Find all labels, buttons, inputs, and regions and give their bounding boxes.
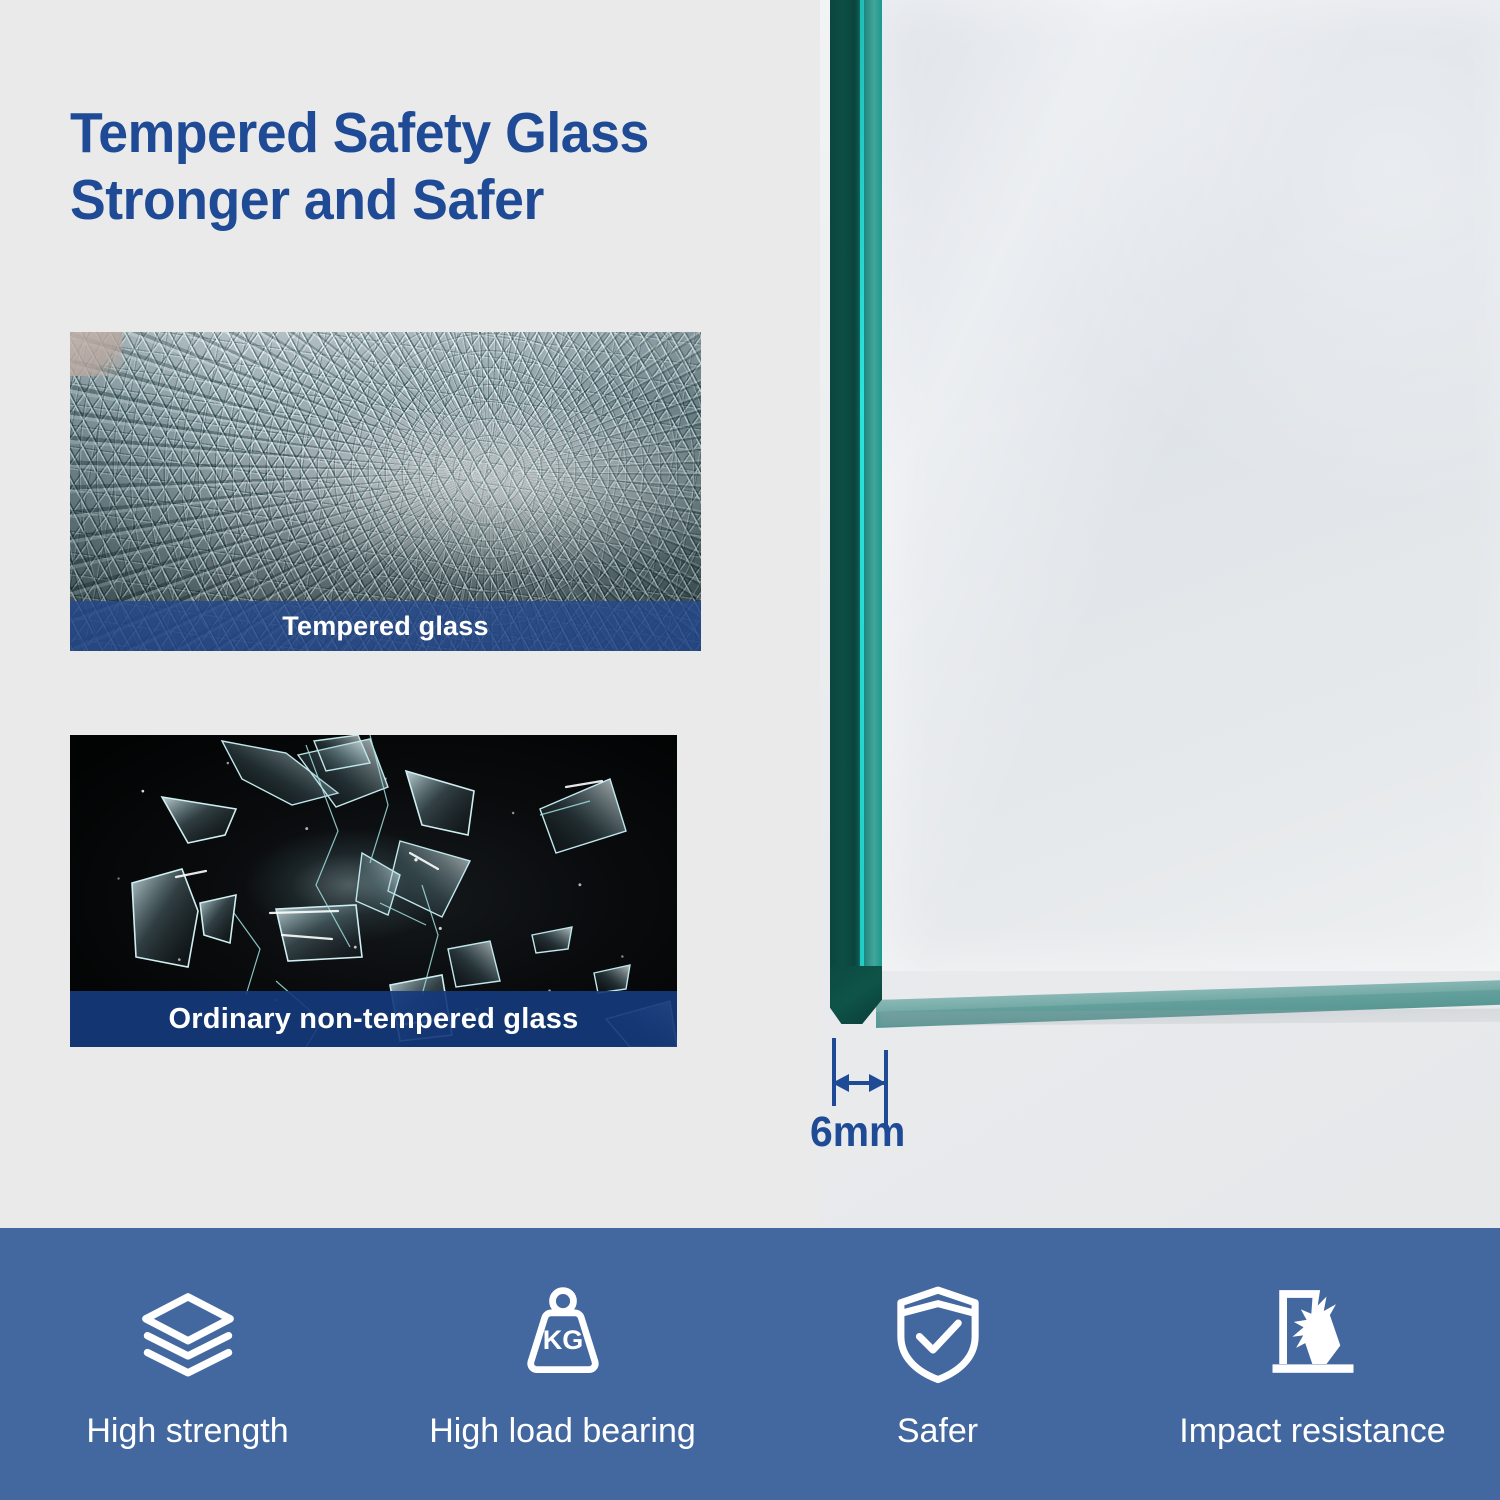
weight-kg-icon: KG [509, 1280, 617, 1388]
product-infographic: Tempered Safety Glass Stronger and Safer… [0, 0, 1500, 1500]
feature-bar: High strength KG High load bearing Safe [0, 1228, 1500, 1500]
tempered-glass-corner-tint [70, 332, 122, 376]
arrow-right-icon [869, 1074, 886, 1092]
arrow-left-icon [832, 1074, 849, 1092]
feature-label: Impact resistance [1179, 1414, 1445, 1448]
glass-panel-edge-bevel [830, 0, 882, 1006]
broken-glass-panel-icon [1259, 1280, 1367, 1388]
feature-label: High strength [86, 1414, 288, 1448]
weight-icon-text: KG [542, 1325, 583, 1355]
dimension-extension-line-left [832, 1038, 836, 1106]
feature-impact-resistance: Impact resistance [1125, 1228, 1500, 1500]
feature-high-load-bearing: KG High load bearing [375, 1228, 750, 1500]
tempered-glass-caption: Tempered glass [70, 601, 701, 651]
thickness-dimension-callout: 6mm [828, 1038, 1028, 1158]
page-title: Tempered Safety Glass Stronger and Safer [70, 100, 784, 233]
layers-stack-icon [134, 1280, 242, 1388]
feature-safer: Safer [750, 1228, 1125, 1500]
feature-high-strength: High strength [0, 1228, 375, 1500]
feature-label: Safer [897, 1414, 978, 1448]
glass-panel-reflection [880, 0, 1500, 971]
glass-panel-render [820, 0, 1500, 1036]
shield-check-icon [884, 1280, 992, 1388]
thickness-label: 6mm [810, 1108, 905, 1157]
ordinary-glass-caption: Ordinary non-tempered glass [70, 991, 677, 1047]
tempered-glass-photo: Tempered glass [70, 332, 701, 651]
ordinary-glass-photo: Ordinary non-tempered glass [70, 735, 677, 1047]
glass-panel-corner [830, 966, 882, 1024]
feature-label: High load bearing [429, 1414, 696, 1448]
